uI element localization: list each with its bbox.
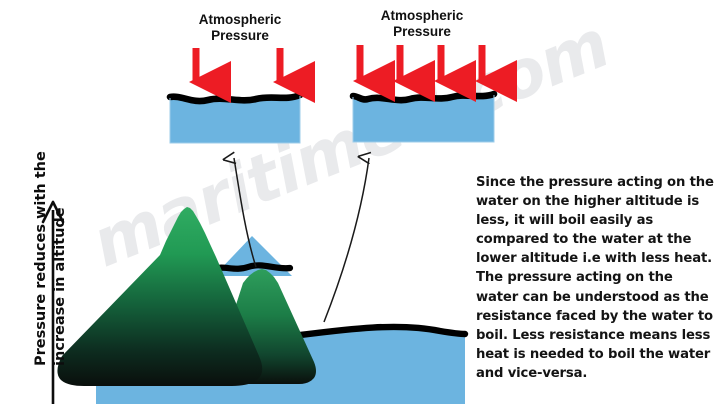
pressure-arrows-right [360,45,482,81]
explanation-paragraph: Since the pressure acting on the water o… [476,173,716,383]
altitude-axis-label: Pressure reduces with the increase in al… [32,56,70,366]
callout-arrow-sea [324,158,369,322]
beaker-left [170,95,300,143]
mountain-main-peak [57,207,262,386]
pressure-arrows-left [196,48,280,82]
beaker-right [353,94,494,142]
atmospheric-pressure-label-left: Atmospheric Pressure [178,12,302,44]
diagram-canvas: maritimed.com [0,0,720,404]
atmospheric-pressure-label-right: Atmospheric Pressure [356,8,488,40]
